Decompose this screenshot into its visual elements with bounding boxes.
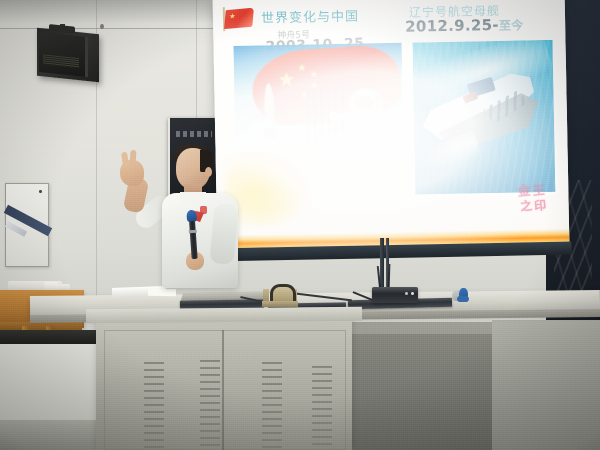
podium-vent-4 [312,366,332,448]
panel-stripe [4,205,52,236]
poster-text-block [176,131,212,137]
wall-nail [100,24,104,29]
podium-top-surface [86,307,362,323]
ornament-base [262,301,298,307]
presenter-collar [180,192,206,204]
right-photo-light-wash [412,40,555,195]
bronze-ornament [262,285,298,307]
speaker-top [49,24,75,34]
router-led-1 [411,292,414,295]
red-seal-stamp: 金 王 之 印 [515,182,552,219]
slide-date-right: 2012.9.25-至今 [405,15,524,35]
panel-dot [39,190,42,193]
wall-panel-whiteboard [5,183,49,267]
flag-star: ★ [229,13,236,21]
right-cabinet-shadow [352,334,492,450]
seal-char-3: 之 [520,199,533,213]
slide-image-shenzhou-launch: ★ ★ ★ ★ ★ [234,43,404,164]
seal-char-4: 印 [534,199,547,213]
microphone-body [189,221,198,259]
photo-scene: ★ 世界变化与中国 神舟5号 2003.10. 25 辽宁号航空母舰 2012.… [0,0,600,450]
microphone-ring [189,230,197,234]
wireless-router [372,287,418,303]
ceiling-speaker-icon [37,28,99,83]
presenter-finger-2 [129,150,136,165]
floor-baseboard [0,420,108,450]
router-led-2 [405,292,408,295]
slide-title-left: 世界变化与中国 [261,6,359,27]
slide-date-right-main: 2012.9.25- [405,16,499,36]
slide-image-liaoning-carrier [409,37,558,198]
presenter-ear [205,167,212,177]
left-dark-shelf [0,330,100,344]
left-photo-light-wash [234,43,404,164]
podium-vent-3 [262,362,282,448]
wall-seam-horizontal [0,28,222,29]
podium-door-frame [104,330,346,450]
presenter [150,148,258,313]
blue-desk-object [452,288,470,302]
seal-char-2: 王 [532,184,545,198]
podium-door-split [222,330,224,450]
projection-screen: ★ 世界变化与中国 神舟5号 2003.10. 25 辽宁号航空母舰 2012.… [213,0,570,249]
seal-char-1: 金 [517,185,531,199]
blue-object-side [457,296,469,302]
far-right-cabinet [492,320,600,450]
ornament-arch [270,284,296,302]
slide-date-right-tail: 至今 [499,18,524,32]
projected-slide: ★ 世界变化与中国 神舟5号 2003.10. 25 辽宁号航空母舰 2012.… [213,0,570,249]
podium-vent-2 [200,360,220,448]
shirt-logo-accent [200,206,207,214]
chinese-flag-icon: ★ [224,8,254,29]
podium-vent-1 [144,362,164,448]
